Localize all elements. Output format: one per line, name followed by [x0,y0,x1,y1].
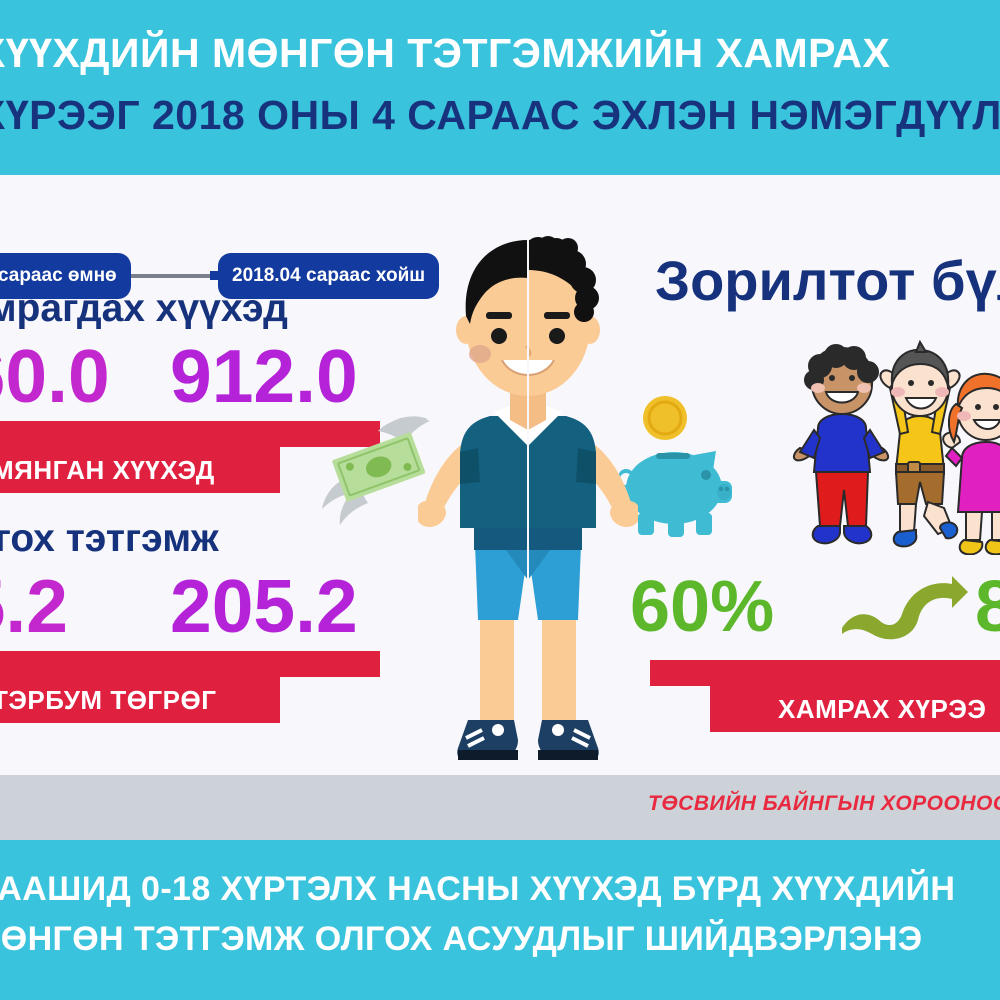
stat-unit-bar-benefit: ТЭРБУМ ТӨГРӨГ [0,651,410,723]
stat-old-value-benefit: 35.2 [0,563,68,649]
stat-unit-label-children: МЯНГАН ХҮҮХЭД [0,447,215,493]
credit-strip: ТӨСВИЙН БАЙНГЫН ХОРООНООС [0,775,1000,840]
header-banner: ХҮҮХДИЙН МӨНГӨН ТЭТГЭМЖИЙН ХАМРАХ ХҮРЭЭГ… [0,0,1000,175]
main-content-area: 2018.04 сараас өмнө 2018.04 сараас хойш … [0,175,1000,775]
coverage-percent-row: 60% 80% [630,560,1000,655]
stat-new-value-children: 912.0 [170,333,358,419]
gold-coin-icon [643,396,687,440]
stat-values-children: 160.0 912.0 [0,333,410,419]
footer-line2: МӨНГӨН ТЭТГЭМЖ ОЛГОХ АСУУДЛЫГ ШИЙДВЭРЛЭН… [0,920,923,959]
header-title-line2: ХҮРЭЭГ 2018 ОНЫ 4 САРААС ЭХЛЭН НЭМЭГДҮҮЛ… [0,92,1000,139]
coverage-unit-bar: ХАМРАХ ХҮРЭЭ [650,660,1000,732]
three-happy-children-illustration [790,340,1000,555]
goal-title: Зорилтот бүлэг [655,248,1000,313]
split-face-boy-illustration [418,220,638,775]
infographic-canvas: ХҮҮХДИЙН МӨНГӨН ТЭТГЭМЖИЙН ХАМРАХ ХҮРЭЭГ… [0,0,1000,1000]
coverage-old-percent: 60% [630,560,774,655]
stat-new-value-benefit: 205.2 [170,563,358,649]
stat-unit-label-benefit: ТЭРБУМ ТӨГРӨГ [0,677,216,723]
stat-title-children: Хамрагдах хүүхэд [0,287,410,331]
stat-old-value-children: 160.0 [0,333,110,419]
green-upward-arrow-icon [840,572,970,640]
footer-banner: ЦААШИД 0-18 ХҮРТЭЛХ НАСНЫ ХҮҮХЭД БҮРД ХҮ… [0,840,1000,1000]
coverage-unit-label: ХАМРАХ ХҮРЭЭ [778,686,986,732]
stat-block-benefit: Олгох тэтгэмж 35.2 205.2 ТЭРБУМ ТӨГРӨГ [0,517,410,723]
coverage-new-percent: 80% [975,560,1000,655]
credit-text: ТӨСВИЙН БАЙНГЫН ХОРООНООС [648,792,1000,816]
unit-bar-top-segment [650,660,1000,686]
header-title-line1: ХҮҮХДИЙН МӨНГӨН ТЭТГЭМЖИЙН ХАМРАХ [0,30,890,77]
footer-line1: ЦААШИД 0-18 ХҮРТЭЛХ НАСНЫ ХҮҮХЭД БҮРД ХҮ… [0,870,955,909]
stat-values-benefit: 35.2 205.2 [0,563,410,649]
unit-bar-top-segment [0,651,380,677]
